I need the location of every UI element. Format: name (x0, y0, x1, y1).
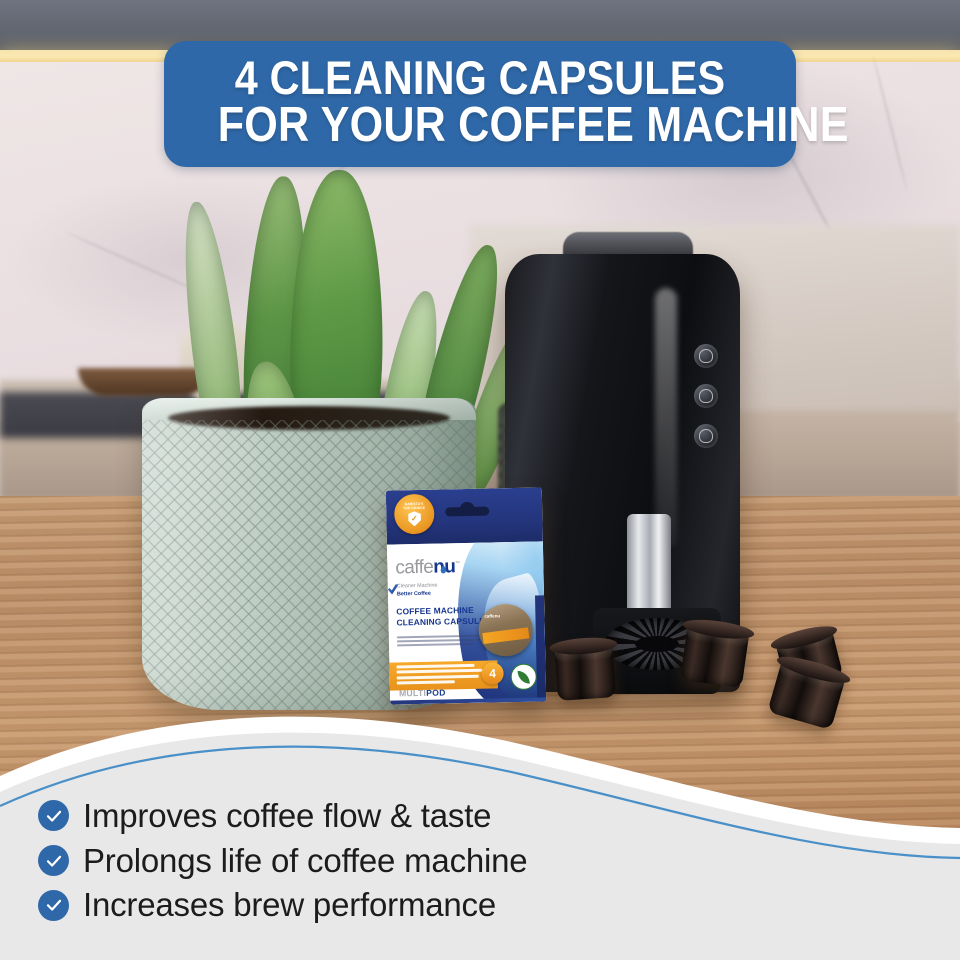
check-circle-icon (38, 845, 69, 876)
check-circle-icon (38, 800, 69, 831)
barista-top-choice-seal: BARISTA'S TOP CHOICE (394, 494, 435, 535)
capsule-2 (680, 620, 750, 688)
lungo-cup-icon (694, 344, 718, 368)
brand-tagline: Cleaner Machine Better Coffee (397, 582, 438, 599)
box-hang-hole (445, 506, 489, 516)
shield-icon (408, 511, 421, 526)
headline-line-1: 4 CLEANING CAPSULES (218, 55, 742, 101)
steam-icon (694, 424, 718, 448)
benefit-text: Prolongs life of coffee machine (83, 843, 527, 879)
seal-line-2: TOP CHOICE (403, 506, 425, 511)
headline-line-2: FOR YOUR COFFEE MACHINE (218, 101, 742, 149)
trademark-symbol: ™ (455, 561, 460, 567)
espresso-cup-icon (694, 384, 718, 408)
list-item: Improves coffee flow & taste (38, 798, 698, 834)
page-title: 4 CLEANING CAPSULES FOR YOUR COFFEE MACH… (218, 55, 742, 149)
list-item: Prolongs life of coffee machine (38, 843, 698, 879)
check-circle-icon (38, 890, 69, 921)
tagline-line-2: Better Coffee (397, 590, 438, 599)
brand-logo: caffenu™ (395, 557, 460, 577)
box-header-panel: BARISTA'S TOP CHOICE (386, 487, 543, 544)
brand-caffe: caffe (395, 557, 433, 579)
benefit-text: Improves coffee flow & taste (83, 798, 491, 834)
benefit-text: Increases brew performance (83, 887, 496, 923)
product-marketing-image: BARISTA'S TOP CHOICE caffenu™ Cleaner Ma… (0, 0, 960, 960)
headline-badge: 4 CLEANING CAPSULES FOR YOUR COFFEE MACH… (164, 41, 796, 167)
list-item: Increases brew performance (38, 887, 698, 923)
box-multilingual-text (397, 635, 485, 649)
product-box: BARISTA'S TOP CHOICE caffenu™ Cleaner Ma… (386, 487, 546, 704)
benefits-list: Improves coffee flow & taste Prolongs li… (38, 798, 698, 932)
